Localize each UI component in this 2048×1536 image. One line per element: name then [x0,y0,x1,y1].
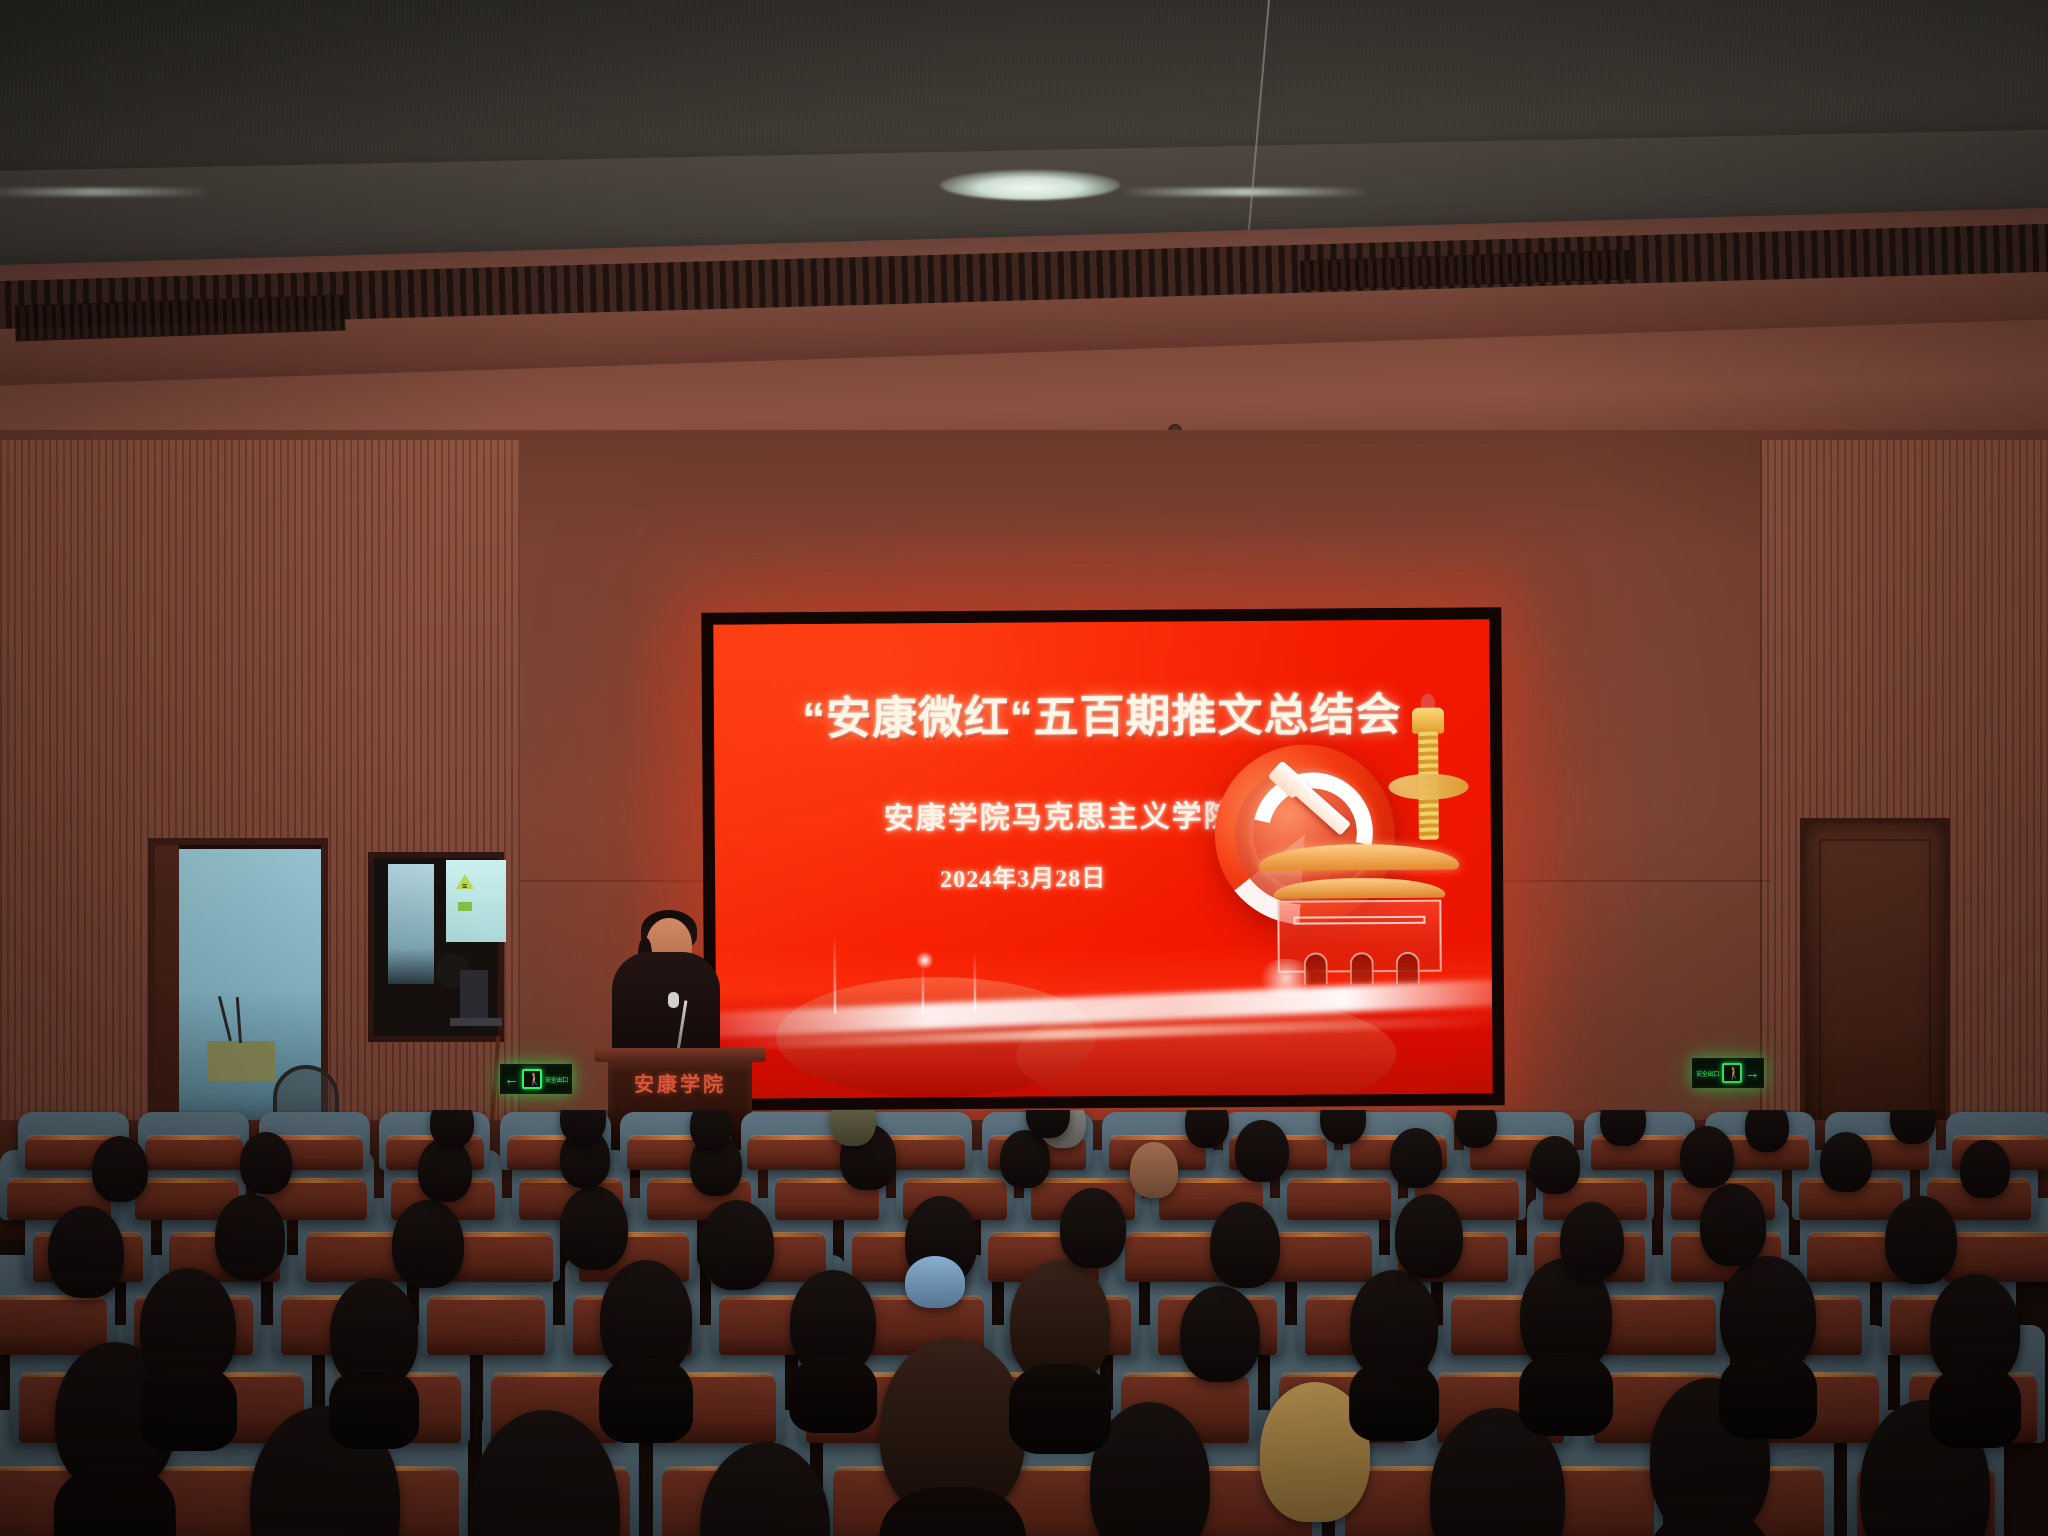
audience-member [1235,1120,1289,1182]
audience-member [330,1278,418,1388]
column-capital [1412,708,1444,734]
computer-tower-icon [460,970,488,1018]
exit-sign-left: ← 🚶 安全出口 [500,1064,572,1094]
gate-balcony-band [1293,916,1425,925]
seat-trim [1600,1295,1713,1300]
seat-trim [1264,1232,1370,1237]
exit-label-right: 安全出口 [1696,1069,1719,1078]
door-room-table [207,1041,275,1081]
audience-member [240,1132,292,1194]
audience-member [905,1256,965,1308]
audience-member [1745,1110,1789,1152]
seat-backrest [427,1297,545,1355]
control-room-window: ≡ [368,852,504,1042]
audience-member [1560,1202,1624,1280]
audience-member [215,1194,285,1280]
seat-trim [1289,1178,1388,1183]
seat-trim [1597,1372,1719,1377]
audience-member [690,1110,732,1150]
seat-trim [137,1178,236,1183]
audience-member [1390,1128,1442,1188]
audience-member-hair [1349,1361,1439,1440]
audience-member [790,1270,876,1375]
runner-glyph-right: 🚶 [1727,1067,1736,1080]
audience-member [700,1200,774,1290]
speaker-body [612,952,720,1058]
microphone-stand-a [218,996,232,1041]
equipment-label-chip [458,902,472,911]
audience-member [1720,1256,1816,1374]
audience-member [1180,1286,1260,1382]
audience-member [48,1206,124,1298]
audience-member [1350,1270,1438,1380]
audience-member [1960,1140,2010,1198]
seat-backrest [0,1297,107,1355]
seat-backrest [1287,1179,1391,1220]
audience-member [1060,1188,1126,1268]
seat-trim [1954,1135,2047,1140]
audience-member [140,1268,236,1386]
column-cloud-wings [1388,773,1468,800]
seat-trim [494,1372,616,1377]
microphone-stand-b [236,997,242,1043]
huabiao-column-icon [1408,702,1449,852]
audience-member [1130,1142,1178,1198]
audience-member [1010,1260,1110,1385]
audience-member-hair [879,1487,1027,1536]
ceiling-light-strip-left [0,188,210,196]
audience-member [1820,1132,1872,1192]
audience-member [92,1136,148,1202]
hazard-bolt-glyph: ≡ [462,882,467,891]
audience-member-hair [1929,1367,2021,1448]
ceiling-light-strip-right [1120,188,1370,196]
seat-trim [905,1178,1004,1183]
audience-member-hair [329,1369,419,1448]
podium-top-surface [594,1048,766,1062]
auditorium-photo: ≡ “安康微红“五百期推文总结会 安康学院马克思主义学院 2024年3月28日 [0,0,2048,1536]
audience-member [1930,1274,2020,1386]
audience-seating [0,1110,2048,1536]
right-door-panel [1819,839,1931,1147]
exit-label-left: 安全出口 [545,1075,568,1084]
presentation-slide[interactable]: “安康微红“五百期推文总结会 安康学院马克思主义学院 2024年3月28日 [713,619,1492,1098]
audience-member [830,1110,876,1146]
running-man-icon-right: 🚶 [1722,1063,1742,1083]
ceiling-downlight [940,170,1120,200]
audience-member-hair [789,1357,877,1433]
keyboard-icon [450,1018,502,1026]
exit-sign-right: 安全出口 🚶 → [1692,1058,1764,1088]
audience-member-hair [1649,1511,1771,1536]
exit-arrow-left-icon: ← [504,1072,519,1087]
audience-member [1455,1110,1497,1148]
audience-member [1680,1126,1734,1188]
audience-member [430,1110,474,1148]
gate-roof-upper [1259,844,1459,871]
audience-member [1885,1196,1957,1284]
audience-member [1700,1184,1766,1266]
seat-backrest [1944,1233,2048,1282]
seat-trim [1947,1232,2048,1237]
seat-trim [147,1135,240,1140]
light-spark-1 [916,951,934,969]
audience-member [880,1338,1025,1518]
podium-microphone-head [668,992,679,1008]
audience-member [392,1200,464,1288]
audience-member [1185,1110,1229,1148]
window-pane-left [388,864,434,984]
audience-member [1395,1194,1463,1278]
led-screen-bezel: “安康微红“五百期推文总结会 安康学院马克思主义学院 2024年3月28日 [701,607,1504,1111]
seat-trim [430,1295,543,1300]
seat-trim [1033,1178,1132,1183]
audience-member-hair [1719,1354,1817,1439]
audience-member [560,1186,628,1270]
auditorium-seat [138,1112,249,1170]
wall-seam-vertical [1760,440,1762,1140]
exit-arrow-right-icon: → [1745,1066,1760,1081]
audience-member-hair [1009,1364,1111,1454]
seat-backrest [145,1136,243,1170]
seat-backrest [747,1136,845,1170]
audience-member-hair [139,1366,237,1451]
audience-member-hair [1519,1353,1613,1436]
seat-trim [750,1135,843,1140]
audience-member [1600,1110,1646,1146]
audience-member-hair [54,1467,176,1536]
runner-glyph-left: 🚶 [527,1073,536,1086]
audience-member [600,1260,692,1378]
audience-member [1530,1136,1580,1194]
audience-member-hair [599,1358,693,1443]
podium-institution-text: 安康学院 [600,1068,760,1097]
seat-backrest [1591,1136,1689,1170]
running-man-icon-left: 🚶 [522,1069,542,1089]
seat-backrest [1597,1297,1715,1355]
window-pane-right [446,860,506,942]
audience-member [1210,1202,1280,1288]
gate-roof-lower [1273,878,1445,899]
audience-member [1000,1130,1050,1188]
